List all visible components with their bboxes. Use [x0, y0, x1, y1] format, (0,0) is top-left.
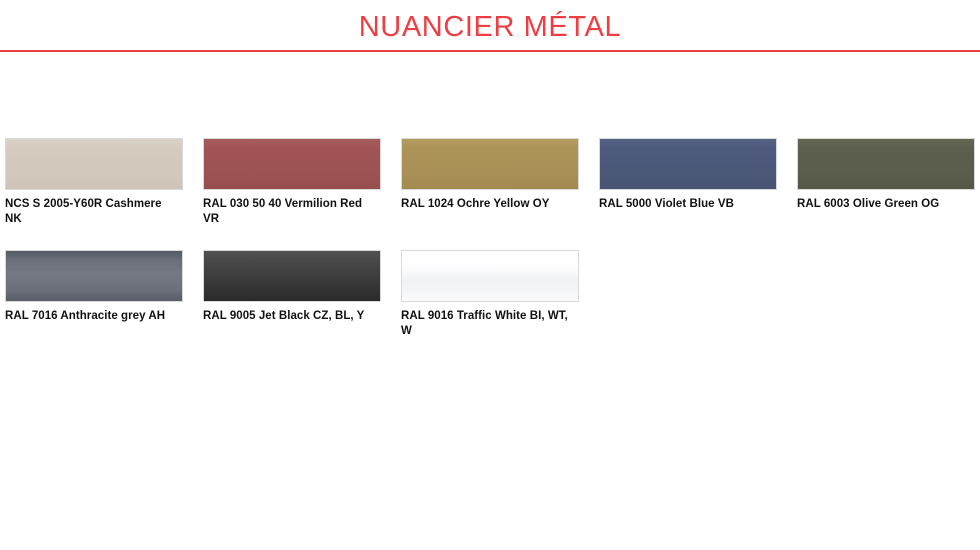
swatch-cell-olive-green[interactable]: RAL 6003 Olive Green OG — [797, 138, 975, 227]
color-chip[interactable] — [401, 250, 579, 302]
page-header: NUANCIER MÉTAL — [0, 0, 980, 52]
nuancier-page: NUANCIER MÉTAL NCS S 2005-Y60R Cashmere … — [0, 0, 980, 339]
swatch-label: RAL 9005 Jet Black CZ, BL, Y — [203, 309, 373, 324]
header-divider — [0, 50, 980, 52]
swatch-grid: NCS S 2005-Y60R Cashmere NK RAL 030 50 4… — [0, 138, 980, 339]
swatch-cell-traffic-white[interactable]: RAL 9016 Traffic White BI, WT, W — [401, 250, 579, 339]
swatch-cell-vermilion-red[interactable]: RAL 030 50 40 Vermilion Red VR — [203, 138, 381, 227]
swatch-label: RAL 030 50 40 Vermilion Red VR — [203, 197, 373, 227]
swatch-label: NCS S 2005-Y60R Cashmere NK — [5, 197, 175, 227]
swatch-cell-ochre-yellow[interactable]: RAL 1024 Ochre Yellow OY — [401, 138, 579, 227]
swatch-row: RAL 7016 Anthracite grey AH RAL 9005 Jet… — [5, 250, 980, 339]
swatch-label: RAL 1024 Ochre Yellow OY — [401, 197, 571, 212]
swatch-label: RAL 6003 Olive Green OG — [797, 197, 967, 212]
swatch-label: RAL 7016 Anthracite grey AH — [5, 309, 175, 324]
color-chip[interactable] — [203, 250, 381, 302]
color-chip[interactable] — [5, 250, 183, 302]
color-chip[interactable] — [203, 138, 381, 190]
color-chip[interactable] — [797, 138, 975, 190]
swatch-row: NCS S 2005-Y60R Cashmere NK RAL 030 50 4… — [5, 138, 980, 227]
color-chip[interactable] — [599, 138, 777, 190]
color-chip[interactable] — [5, 138, 183, 190]
swatch-label: RAL 5000 Violet Blue VB — [599, 197, 769, 212]
swatch-label: RAL 9016 Traffic White BI, WT, W — [401, 309, 571, 339]
color-chip[interactable] — [401, 138, 579, 190]
page-title: NUANCIER MÉTAL — [359, 11, 621, 42]
swatch-cell-violet-blue[interactable]: RAL 5000 Violet Blue VB — [599, 138, 777, 227]
swatch-cell-jet-black[interactable]: RAL 9005 Jet Black CZ, BL, Y — [203, 250, 381, 339]
swatch-cell-anthracite-grey[interactable]: RAL 7016 Anthracite grey AH — [5, 250, 183, 339]
swatch-cell-cashmere[interactable]: NCS S 2005-Y60R Cashmere NK — [5, 138, 183, 227]
